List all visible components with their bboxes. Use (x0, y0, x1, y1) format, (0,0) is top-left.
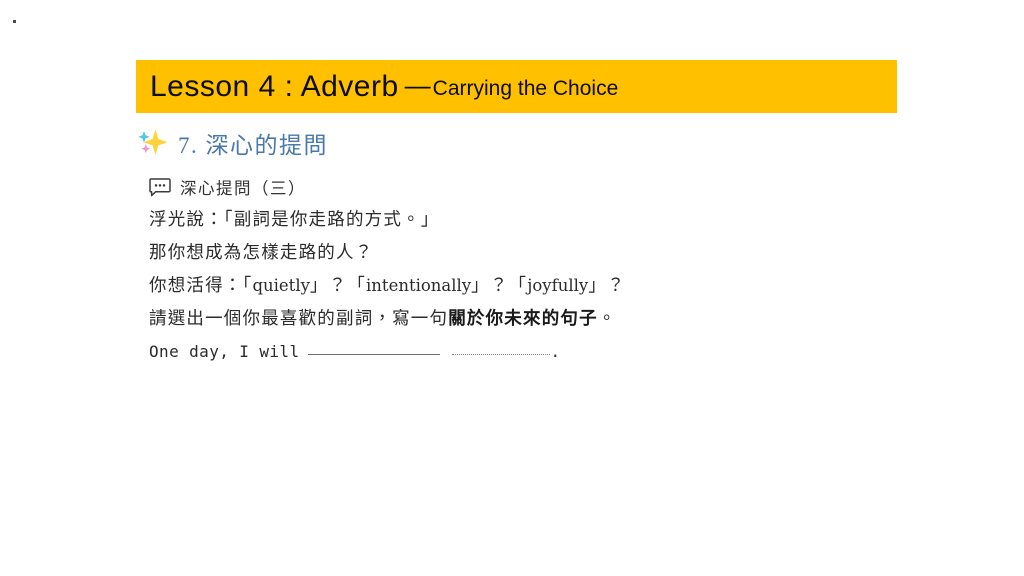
sparkles-icon (136, 127, 170, 159)
line4-lead: 請選出一個你最喜歡的副詞，寫一句 (149, 308, 448, 328)
line3-tail: 」？ (588, 275, 625, 295)
lesson-title: Lesson 4 : Adverb (150, 72, 399, 102)
line3-lead: 你想活得：「 (149, 275, 252, 295)
fill-in-sentence-line: One day, I will. (149, 335, 929, 368)
body-line-4: 請選出一個你最喜歡的副詞，寫一句關於你未來的句子。 (149, 302, 929, 335)
prompt-line: 深心提問（三） (149, 170, 929, 203)
body-block: 深心提問（三） 浮光說：「副詞是你走路的方式。」 那你想成為怎樣走路的人？ 你想… (149, 170, 929, 368)
body-line-1: 浮光說：「副詞是你走路的方式。」 (149, 203, 929, 236)
speech-bubble-icon (149, 178, 171, 197)
adverb-option-2: intentionally (366, 276, 471, 295)
body-line-3: 你想活得：「quietly」？「intentionally」？「joyfully… (149, 269, 929, 302)
body-line-2: 那你想成為怎樣走路的人？ (149, 236, 929, 269)
line4-emphasis: 關於你未來的句子 (448, 308, 598, 328)
line4-tail: 。 (598, 308, 617, 328)
line3-mid-1: 」？「 (310, 275, 366, 295)
title-banner: Lesson 4 : Adverb — Carrying the Choice (136, 60, 897, 113)
prompt-label: 深心提問（三） (180, 175, 306, 199)
sentence-period: . (551, 342, 561, 361)
stray-dot-artifact (13, 20, 16, 23)
lesson-subtitle: Carrying the Choice (433, 78, 619, 99)
adverb-option-3: joyfully (527, 276, 588, 295)
title-em-dash: — (399, 72, 433, 98)
adverb-option-1: quietly (252, 276, 309, 295)
section-heading: 7. 深心的提問 (136, 126, 328, 160)
answer-blank-1[interactable] (308, 354, 440, 355)
sentence-starter: One day, I will (149, 342, 300, 361)
answer-blank-2[interactable] (452, 354, 550, 355)
line3-mid-2: 」？「 (471, 275, 527, 295)
section-heading-label: 7. 深心的提問 (178, 126, 328, 160)
